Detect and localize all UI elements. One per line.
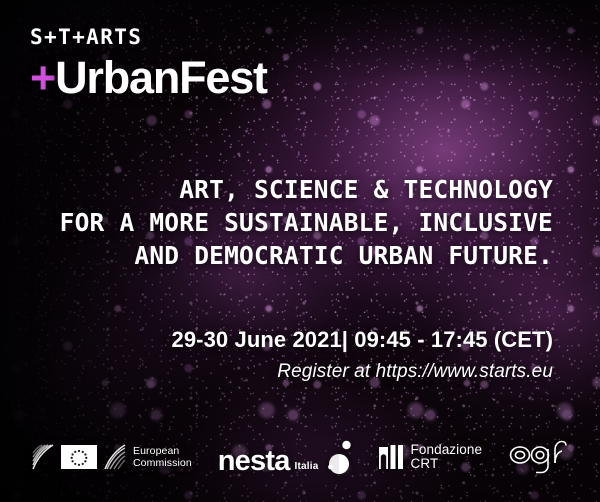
starts-wordmark: S+T+ARTS xyxy=(30,27,267,48)
crt-label-line-2: CRT xyxy=(411,456,439,471)
urbanfest-name: UrbanFest xyxy=(55,52,267,103)
logo-fondazione-crt: Fondazione CRT xyxy=(379,443,483,472)
sponsor-logo-bar: European Commission nesta Italia xyxy=(32,428,600,486)
logo-european-commission: European Commission xyxy=(32,444,192,470)
ec-label-line-2: Commission xyxy=(133,457,192,469)
ec-label: European Commission xyxy=(133,445,192,469)
ec-wave-left-icon xyxy=(32,444,54,470)
brand-lockup: S+T+ARTS +UrbanFest xyxy=(30,27,267,101)
event-poster: S+T+ARTS +UrbanFest ART, SCIENCE & TECHN… xyxy=(0,0,600,502)
nesta-sublabel: Italia xyxy=(295,461,319,472)
ogr-outline-wordmark-icon xyxy=(508,440,570,474)
crt-label: Fondazione CRT xyxy=(411,443,483,472)
plus-glyph: + xyxy=(30,52,55,103)
registration-link[interactable]: Register at https://www.starts.eu xyxy=(277,361,553,383)
logo-ogr xyxy=(508,440,570,474)
ec-wave-right-icon xyxy=(104,444,126,470)
event-datetime: 29-30 June 2021| 09:45 - 17:45 (CET) xyxy=(172,327,554,353)
nesta-wordmark: nesta xyxy=(218,448,290,474)
headline-line-1: ART, SCIENCE & TECHNOLOGY xyxy=(60,173,553,206)
headline-line-2: FOR A MORE SUSTAINABLE, INCLUSIVE xyxy=(60,206,553,239)
nesta-circle-mark-icon xyxy=(325,440,353,474)
urbanfest-wordmark: +UrbanFest xyxy=(30,55,267,101)
crt-label-line-1: Fondazione xyxy=(411,442,483,457)
eu-flag-stars-icon xyxy=(61,445,97,469)
headline: ART, SCIENCE & TECHNOLOGY FOR A MORE SUS… xyxy=(60,173,553,272)
headline-line-3: AND DEMOCRATIC URBAN FUTURE. xyxy=(60,239,553,272)
crt-bars-icon xyxy=(379,445,404,469)
logo-nesta-italia: nesta Italia xyxy=(218,440,353,474)
ec-label-line-1: European xyxy=(133,445,179,457)
